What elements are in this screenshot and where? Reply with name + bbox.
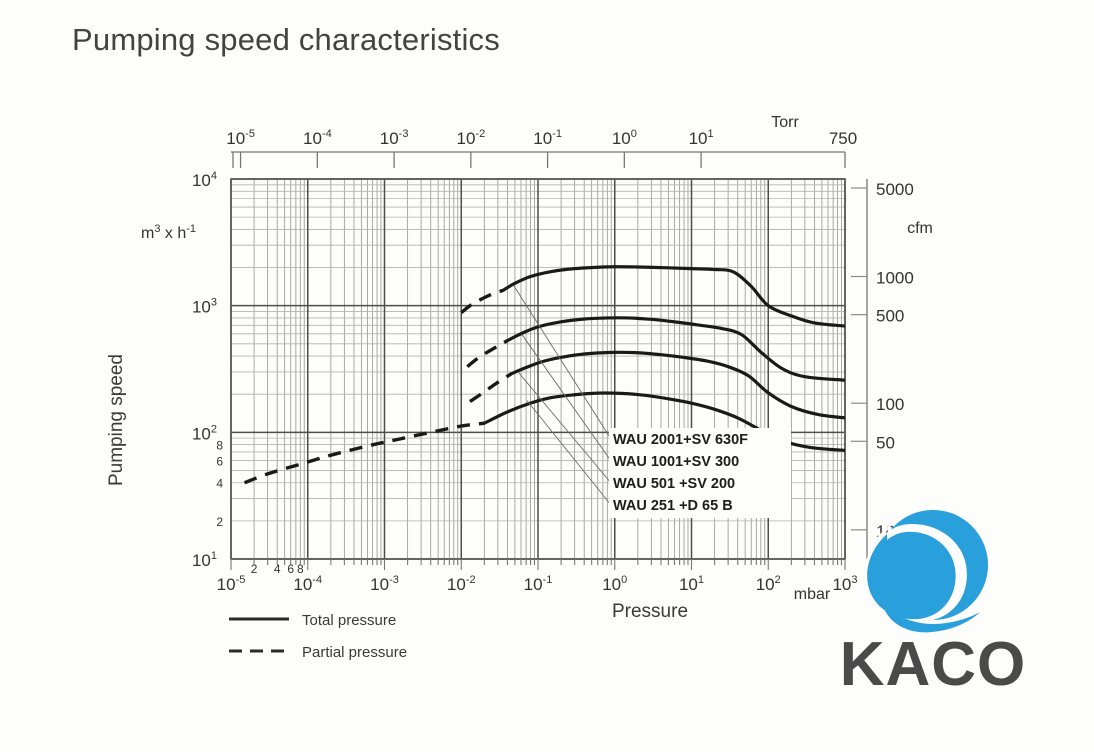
top-tick-4: 10-1 xyxy=(533,128,562,148)
right-tick-1: 1000 xyxy=(876,269,914,288)
left-minor-tick-0: 8 xyxy=(216,439,223,453)
curve-label-2: WAU 501 +SV 200 xyxy=(613,476,735,492)
bottom-tick-2: 10-3 xyxy=(370,574,399,594)
leader-line-3 xyxy=(527,401,611,505)
curve-label-1: WAU 1001+SV 300 xyxy=(613,454,739,470)
curve-partial-2 xyxy=(470,374,511,402)
leader-line-0 xyxy=(514,285,611,439)
right-axis-cfm: 500010005001005010 xyxy=(851,179,914,559)
kaco-wordmark: KACO xyxy=(840,630,1027,699)
top-tick-0: 10-5 xyxy=(226,128,255,148)
left-minor-tick-1: 6 xyxy=(216,454,223,468)
curve-partial-0 xyxy=(461,290,503,312)
svg-text:m3 x h-1: m3 x h-1 xyxy=(141,223,196,242)
leader-line-2 xyxy=(518,372,611,483)
curve-total-1 xyxy=(507,318,845,380)
right-tick-0: 5000 xyxy=(876,180,914,199)
pumping-speed-chart: 10-510-410-310-210-1100101750 10-510-410… xyxy=(0,0,1094,752)
top-tick-5: 100 xyxy=(612,128,637,148)
x-unit-bottom: mbar xyxy=(794,586,831,603)
bottom-tick-4: 10-1 xyxy=(524,574,553,594)
chart-svg: 10-510-410-310-210-1100101750 10-510-410… xyxy=(0,0,1094,752)
top-tick-750: 750 xyxy=(829,129,857,148)
curve-partial-1 xyxy=(467,341,507,367)
left-tick-1: 103 xyxy=(192,297,217,317)
x-axis-title: Pressure xyxy=(612,601,688,622)
bottom-tick-0: 10-5 xyxy=(217,574,246,594)
top-tick-3: 10-2 xyxy=(456,128,485,148)
top-tick-2: 10-3 xyxy=(380,128,409,148)
bottom-axis-mbar: 10-510-410-310-210-11001011021032468 xyxy=(217,559,858,594)
right-tick-3: 100 xyxy=(876,395,904,414)
curve-label-0: WAU 2001+SV 630F xyxy=(613,432,748,448)
bottom-tick-5: 100 xyxy=(602,574,627,594)
left-axis-m3h: 1041031021018642 xyxy=(192,170,223,570)
right-tick-2: 500 xyxy=(876,307,904,326)
left-minor-tick-3: 2 xyxy=(216,515,223,529)
legend-label-partial: Partial pressure xyxy=(302,644,407,661)
bottom-tick-1: 10-4 xyxy=(293,574,322,594)
bottom-tick-8: 103 xyxy=(832,574,857,594)
left-tick-0: 104 xyxy=(192,170,217,190)
top-tick-6: 101 xyxy=(689,128,714,148)
bottom-tick-3: 10-2 xyxy=(447,574,476,594)
bottom-minor-tick-2: 6 xyxy=(287,562,294,576)
y-unit-left: m3 x h-1 xyxy=(141,223,196,242)
top-tick-1: 10-4 xyxy=(303,128,332,148)
y-unit-right: cfm xyxy=(907,220,933,237)
kaco-logo: KACO xyxy=(840,510,1027,699)
legend-label-total: Total pressure xyxy=(302,612,396,629)
bottom-minor-tick-0: 2 xyxy=(251,562,258,576)
left-minor-tick-2: 4 xyxy=(216,477,223,491)
curve-label-block: WAU 2001+SV 630F WAU 1001+SV 300 WAU 501… xyxy=(609,428,791,518)
bottom-minor-tick-1: 4 xyxy=(274,562,281,576)
left-tick-3: 101 xyxy=(192,550,217,570)
left-tick-2: 102 xyxy=(192,423,217,443)
bottom-minor-tick-3: 8 xyxy=(297,562,304,576)
right-tick-4: 50 xyxy=(876,433,895,452)
curve-total-0 xyxy=(503,267,845,326)
top-axis-torr: 10-510-410-310-210-1100101750 xyxy=(226,128,857,168)
y-axis-title: Pumping speed xyxy=(106,354,127,486)
bottom-tick-7: 102 xyxy=(756,574,781,594)
bottom-tick-6: 101 xyxy=(679,574,704,594)
legend: Total pressure Partial pressure xyxy=(229,612,407,661)
x-unit-top: Torr xyxy=(771,114,799,131)
curve-label-3: WAU 251 +D 65 B xyxy=(613,498,733,514)
